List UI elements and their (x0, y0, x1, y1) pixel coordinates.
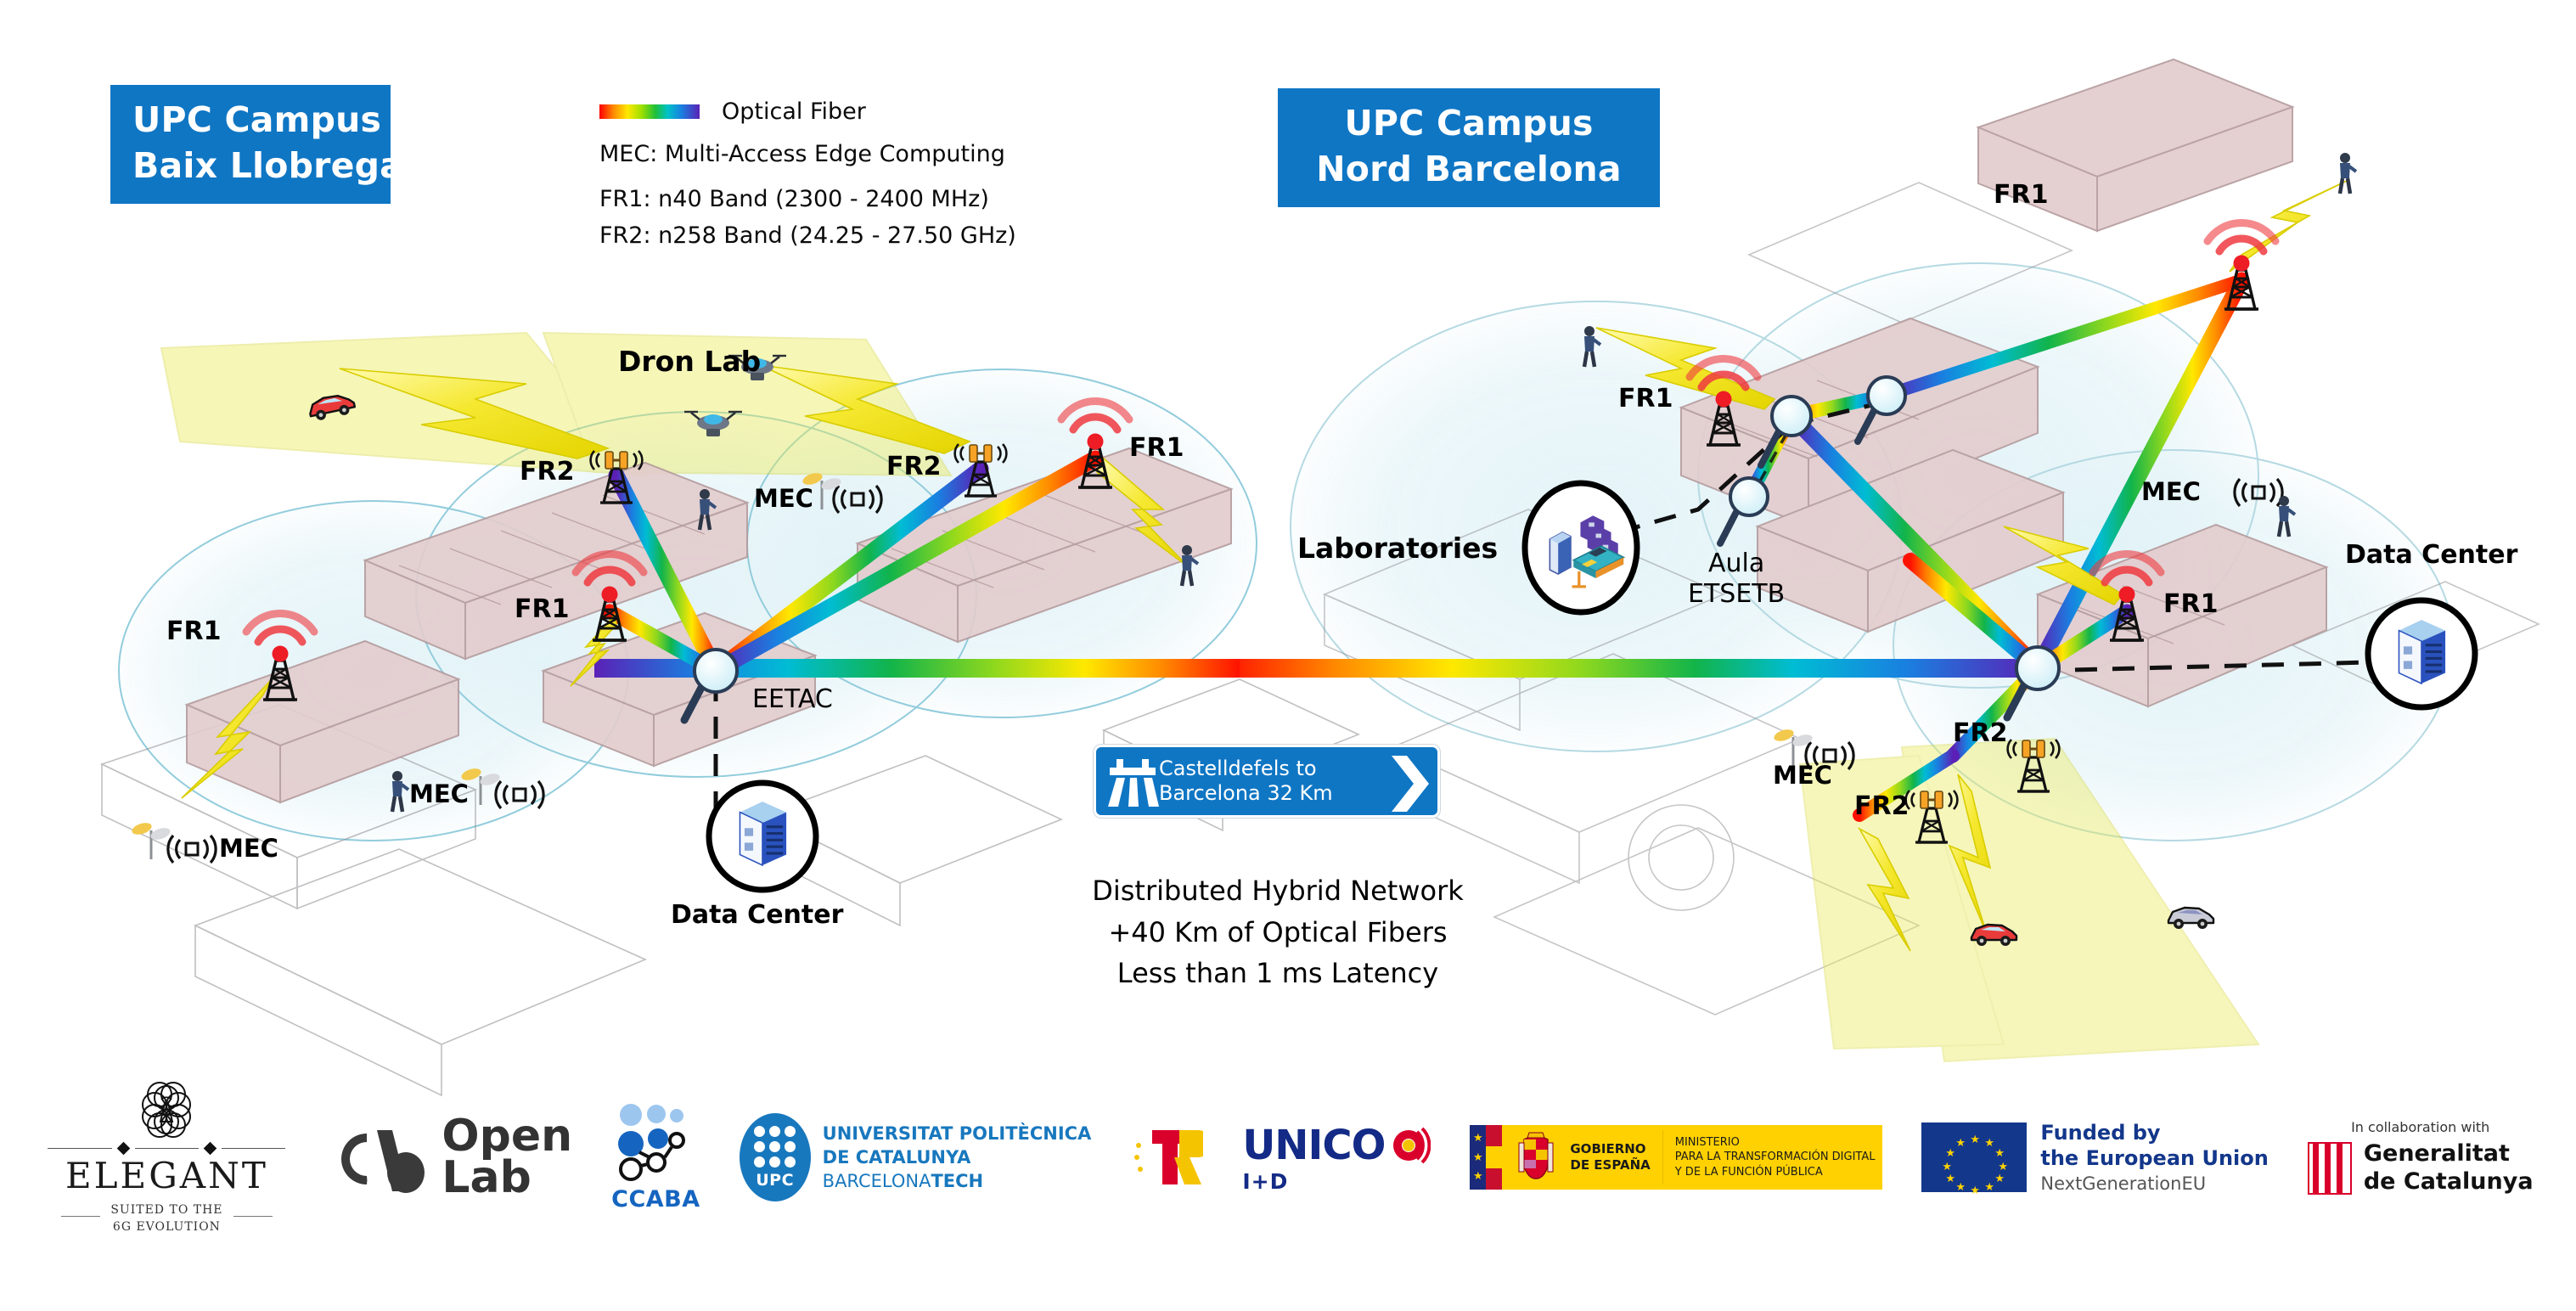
legend-fr2-definition: FR2: n258 Band (24.25 - 27.50 GHz) (599, 222, 1143, 249)
label-fr1-left-c: FR1 (1129, 433, 1184, 464)
label-aula-line1: Aula (1708, 549, 1764, 579)
pedestrian-right-c (2340, 153, 2356, 194)
label-eetac: EETAC (752, 684, 833, 715)
logo-eu-funded: ★★ ★★ ★★ ★★ ★★ ★★ Funded by the European… (1921, 1121, 2268, 1194)
label-fr2-left-a: FR2 (520, 457, 574, 487)
legend-fiber-row: Optical Fiber (599, 92, 1143, 131)
gobierno-line2: DE ESPAÑA (1570, 1157, 1650, 1173)
unico-signal-icon (1386, 1125, 1431, 1166)
spain-eu-flag-icon: ★★★ (1470, 1125, 1502, 1190)
label-fr2-left-b: FR2 (886, 452, 941, 482)
generalitat-line2: de Catalunya (2364, 1168, 2534, 1196)
generalitat-line1: Generalitat (2364, 1140, 2534, 1168)
label-dron-lab: Dron Lab (618, 345, 761, 379)
collaboration-intro: In collaboration with (2351, 1119, 2489, 1135)
data-center-left-icon (709, 783, 816, 890)
logo-elegant: ELEGANT SUITED TO THE 6G EVOLUTION (42, 1079, 290, 1236)
label-laboratories: Laboratories (1297, 532, 1498, 565)
logo-generalitat: In collaboration with Generalitat de Cat… (2308, 1119, 2534, 1196)
optical-fiber-gradient-icon (599, 104, 700, 119)
stat-line-1: Distributed Hybrid Network (1057, 870, 1499, 912)
label-mec-left-b: MEC (409, 779, 469, 809)
upc-wordmark: UNIVERSITAT POLITÈCNICA DE CATALUNYA BAR… (823, 1122, 1092, 1193)
openlab-wordmark: Open Lab (442, 1116, 572, 1199)
ccaba-name: CCABA (611, 1186, 700, 1213)
upc-abbr: UPC (756, 1171, 794, 1190)
elegant-divider (48, 1144, 285, 1153)
logo-upc: UPC UNIVERSITAT POLITÈCNICA DE CATALUNYA… (740, 1113, 1092, 1201)
label-fr1-right-top: FR1 (1994, 180, 2048, 211)
ccaba-graph-icon (617, 1103, 694, 1184)
label-mec-right-a: MEC (1773, 761, 1832, 791)
legend-mec-definition: MEC: Multi-Access Edge Computing (599, 141, 1143, 167)
label-fr1-left-a: FR1 (166, 616, 221, 647)
logo-gobierno-espana: ★★★ GOBIERNO DE ESPAÑA (1470, 1125, 1882, 1190)
elegant-tagline: SUITED TO THE 6G EVOLUTION (61, 1196, 272, 1236)
tower-fr1-right-top (2208, 223, 2275, 309)
chevron-right-icon (1388, 751, 1441, 817)
logo-openlab: Open Lab (329, 1116, 572, 1199)
sponsor-logo-strip: ELEGANT SUITED TO THE 6G EVOLUTION Open … (0, 1077, 2576, 1238)
label-mec-left-c: MEC (754, 484, 813, 514)
campus-left-line2: Baix Llobregat (132, 143, 368, 188)
openlab-line1: Open (442, 1116, 572, 1157)
elegant-tag-line2: 6G EVOLUTION (110, 1218, 222, 1235)
campus-title-left: UPC Campus Baix Llobregat (110, 85, 391, 204)
label-mec-left-a: MEC (219, 834, 278, 864)
label-data-center-right: Data Center (2345, 540, 2517, 571)
eu-flag-icon: ★★ ★★ ★★ ★★ ★★ ★★ (1921, 1123, 2027, 1192)
elegant-tag-line1: SUITED TO THE (110, 1201, 222, 1218)
ministerio-line2: PARA LA TRANSFORMACIÓN DIGITAL (1675, 1150, 1876, 1164)
stat-line-3: Less than 1 ms Latency (1057, 953, 1499, 994)
logo-transformacion (1130, 1125, 1203, 1190)
catalonia-shield-icon (2308, 1142, 2352, 1195)
motorway-icon (1106, 757, 1159, 808)
label-fr1-left-b: FR1 (515, 594, 569, 625)
label-data-center-left: Data Center (671, 900, 843, 931)
campus-right-line1: UPC Campus (1300, 100, 1638, 146)
logo-unico: UNICO I+D (1242, 1122, 1431, 1194)
label-mec-right-b: MEC (2141, 477, 2201, 507)
label-fr1-right-low: FR1 (2163, 589, 2218, 620)
gobierno-line1: GOBIERNO (1570, 1141, 1650, 1157)
logo-ccaba: CCABA (611, 1103, 700, 1213)
network-stats: Distributed Hybrid Network +40 Km of Opt… (1057, 870, 1499, 994)
tr-mark-icon (1130, 1125, 1203, 1190)
openlab-line2: Lab (442, 1157, 572, 1199)
ministerio-line3: Y DE LA FUNCIÓN PÚBLICA (1675, 1165, 1876, 1179)
campus-right-line2: Nord Barcelona (1300, 146, 1638, 192)
openlab-mark-icon (329, 1120, 430, 1195)
spain-coat-of-arms-icon (1514, 1131, 1558, 1184)
eu-sub: NextGenerationEU (2040, 1173, 2268, 1194)
label-fr2-right-a: FR2 (1953, 718, 2007, 749)
diagram-canvas: UPC Campus Baix Llobregat UPC Campus Nor… (0, 0, 2576, 1311)
label-aula-line2: ETSETB (1688, 579, 1785, 610)
laboratories-icon (1525, 483, 1637, 612)
upc-line3-light: BARCELONA (823, 1171, 931, 1191)
upc-emblem-icon: UPC (740, 1113, 811, 1201)
highway-line1: Castelldefels to (1159, 757, 1333, 781)
unico-sub: I+D (1242, 1169, 1288, 1194)
stat-line-2: +40 Km of Optical Fibers (1057, 912, 1499, 954)
highway-line2: Barcelona 32 Km (1159, 781, 1333, 806)
highway-sign: Castelldefels to Barcelona 32 Km (1094, 745, 1440, 818)
elegant-emblem-icon (115, 1079, 217, 1144)
highway-sign-text: Castelldefels to Barcelona 32 Km (1159, 757, 1333, 807)
elegant-name: ELEGANT (65, 1155, 268, 1196)
legend: Optical Fiber MEC: Multi-Access Edge Com… (599, 92, 1143, 249)
campus-title-right: UPC Campus Nord Barcelona (1278, 88, 1660, 207)
label-fr1-right-mid: FR1 (1618, 384, 1673, 414)
upc-line2: DE CATALUNYA (823, 1145, 1092, 1169)
data-center-right-icon (2368, 600, 2475, 707)
label-fr2-right-b: FR2 (1854, 791, 1909, 822)
legend-fiber-label: Optical Fiber (722, 98, 866, 125)
upc-line1: UNIVERSITAT POLITÈCNICA (823, 1122, 1092, 1145)
ministerio-line1: MINISTERIO (1675, 1135, 1876, 1150)
legend-fr1-definition: FR1: n40 Band (2300 - 2400 MHz) (599, 186, 1143, 212)
unico-wordmark: UNICO (1242, 1122, 1385, 1169)
eu-line1: Funded by (2040, 1121, 2268, 1145)
upc-line3-bold: TECH (931, 1171, 983, 1191)
eu-line2: the European Union (2040, 1146, 2268, 1171)
campus-left-line1: UPC Campus (132, 97, 368, 143)
vehicle-silver-right (2168, 908, 2213, 929)
